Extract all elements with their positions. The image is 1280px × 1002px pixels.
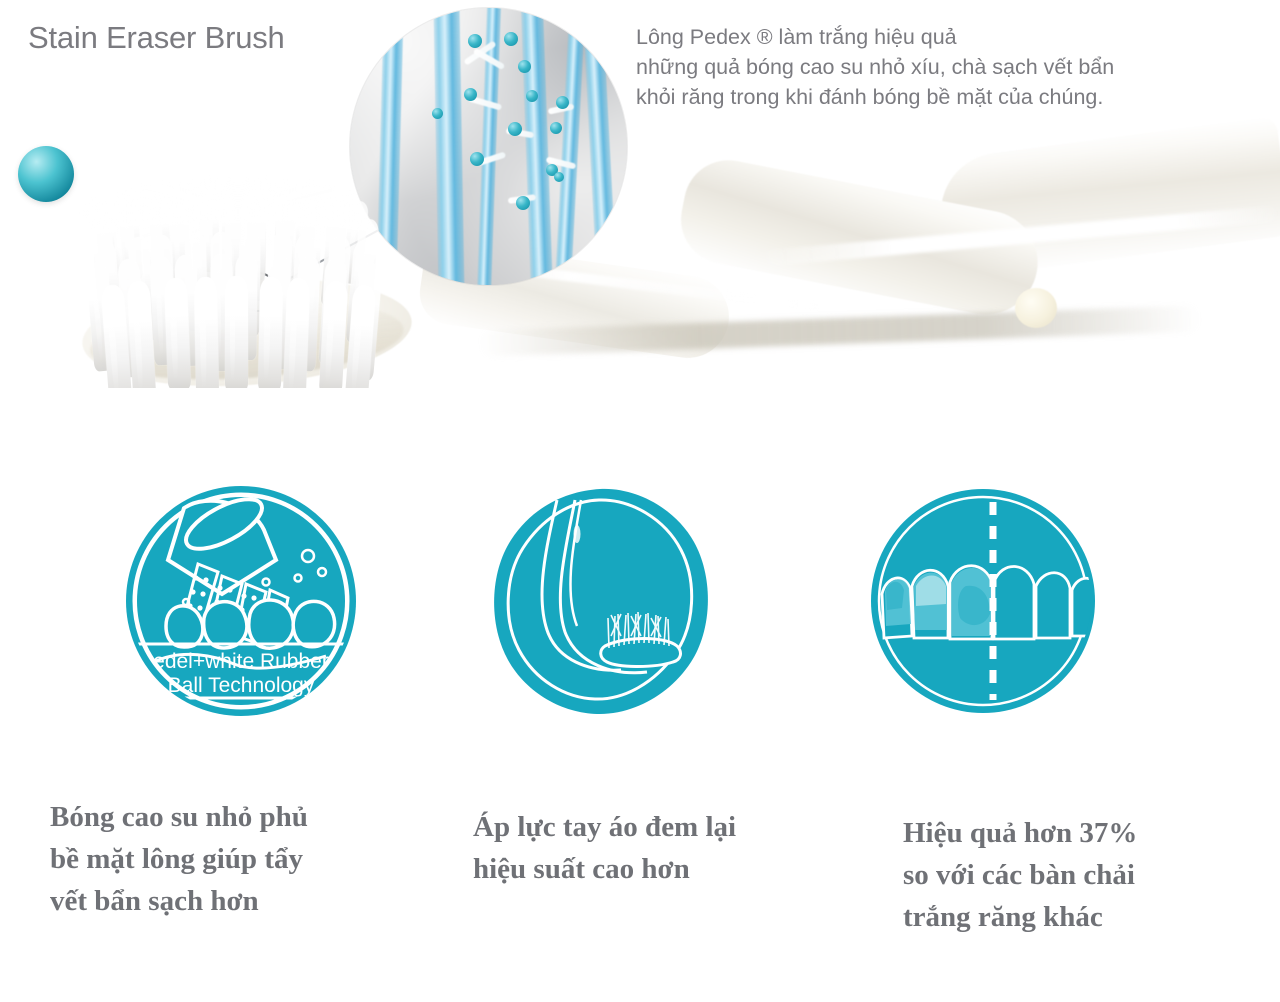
- intro-paragraph: Lông Pedex ® làm trắng hiệu quả những qu…: [636, 22, 1256, 112]
- bristle-tuft: [258, 276, 283, 388]
- magnified-bristle-inset: [350, 8, 627, 285]
- caption-line: Hiệu quả hơn 37%: [903, 812, 1273, 854]
- rubber-ball: [468, 34, 482, 48]
- rubber-ball: [526, 90, 538, 102]
- feature-badge-whitening-comparison: [868, 486, 1098, 716]
- rubber-ball: [550, 122, 562, 134]
- handle-thumb-dot: [1015, 288, 1057, 328]
- caption-line: vết bẩn sạch hơn: [50, 880, 430, 922]
- highlighted-rubber-ball: [18, 146, 74, 202]
- bristle-tuft: [283, 278, 311, 388]
- rubber-ball: [516, 196, 530, 210]
- page-title: Stain Eraser Brush: [28, 20, 285, 56]
- toothbrush-product-photo: [60, 120, 1280, 460]
- bristle-tuft: [193, 276, 218, 388]
- caption-line: bề mặt lông giúp tẩy: [50, 838, 430, 880]
- feature-badge-flexible-neck: [485, 486, 715, 716]
- caption-line: Áp lực tay áo đem lại: [473, 806, 833, 848]
- rubber-ball: [464, 88, 477, 101]
- rubber-ball: [518, 60, 531, 73]
- badge-label-line-1: edel+white Rubber: [153, 650, 329, 673]
- feature-caption-2: Áp lực tay áo đem lại hiệu suất cao hơn: [473, 806, 833, 890]
- caption-line: so với các bàn chải: [903, 854, 1273, 896]
- rubber-ball: [508, 122, 522, 136]
- badge-label-line-2: Ball Technology: [168, 674, 315, 697]
- bristle-field: [88, 188, 388, 388]
- caption-line: hiệu suất cao hơn: [473, 848, 833, 890]
- product-infographic: Stain Eraser Brush Lông Pedex ® làm trắn…: [0, 0, 1280, 1002]
- rubber-ball: [504, 32, 518, 46]
- bristle-filament: [433, 8, 465, 285]
- intro-line-1: Lông Pedex ® làm trắng hiệu quả: [636, 22, 1256, 52]
- rubber-ball: [554, 172, 564, 182]
- rubber-ball: [470, 152, 484, 166]
- feature-caption-3: Hiệu quả hơn 37% so với các bàn chải trắ…: [903, 812, 1273, 938]
- rubber-ball: [556, 96, 569, 109]
- intro-line-3: khỏi răng trong khi đánh bóng bề mặt của…: [636, 82, 1256, 112]
- caption-line: trắng răng khác: [903, 896, 1273, 938]
- feature-badge-rubber-ball-technology: edel+white Rubber Ball Technology: [126, 486, 356, 716]
- caption-line: Bóng cao su nhỏ phủ: [50, 796, 430, 838]
- bristle-tuft: [225, 276, 248, 388]
- feature-caption-1: Bóng cao su nhỏ phủ bề mặt lông giúp tẩy…: [50, 796, 430, 922]
- rubber-ball: [432, 108, 443, 119]
- intro-line-2: những quả bóng cao su nhỏ xíu, chà sạch …: [636, 52, 1256, 82]
- bristle-tuft: [164, 278, 191, 388]
